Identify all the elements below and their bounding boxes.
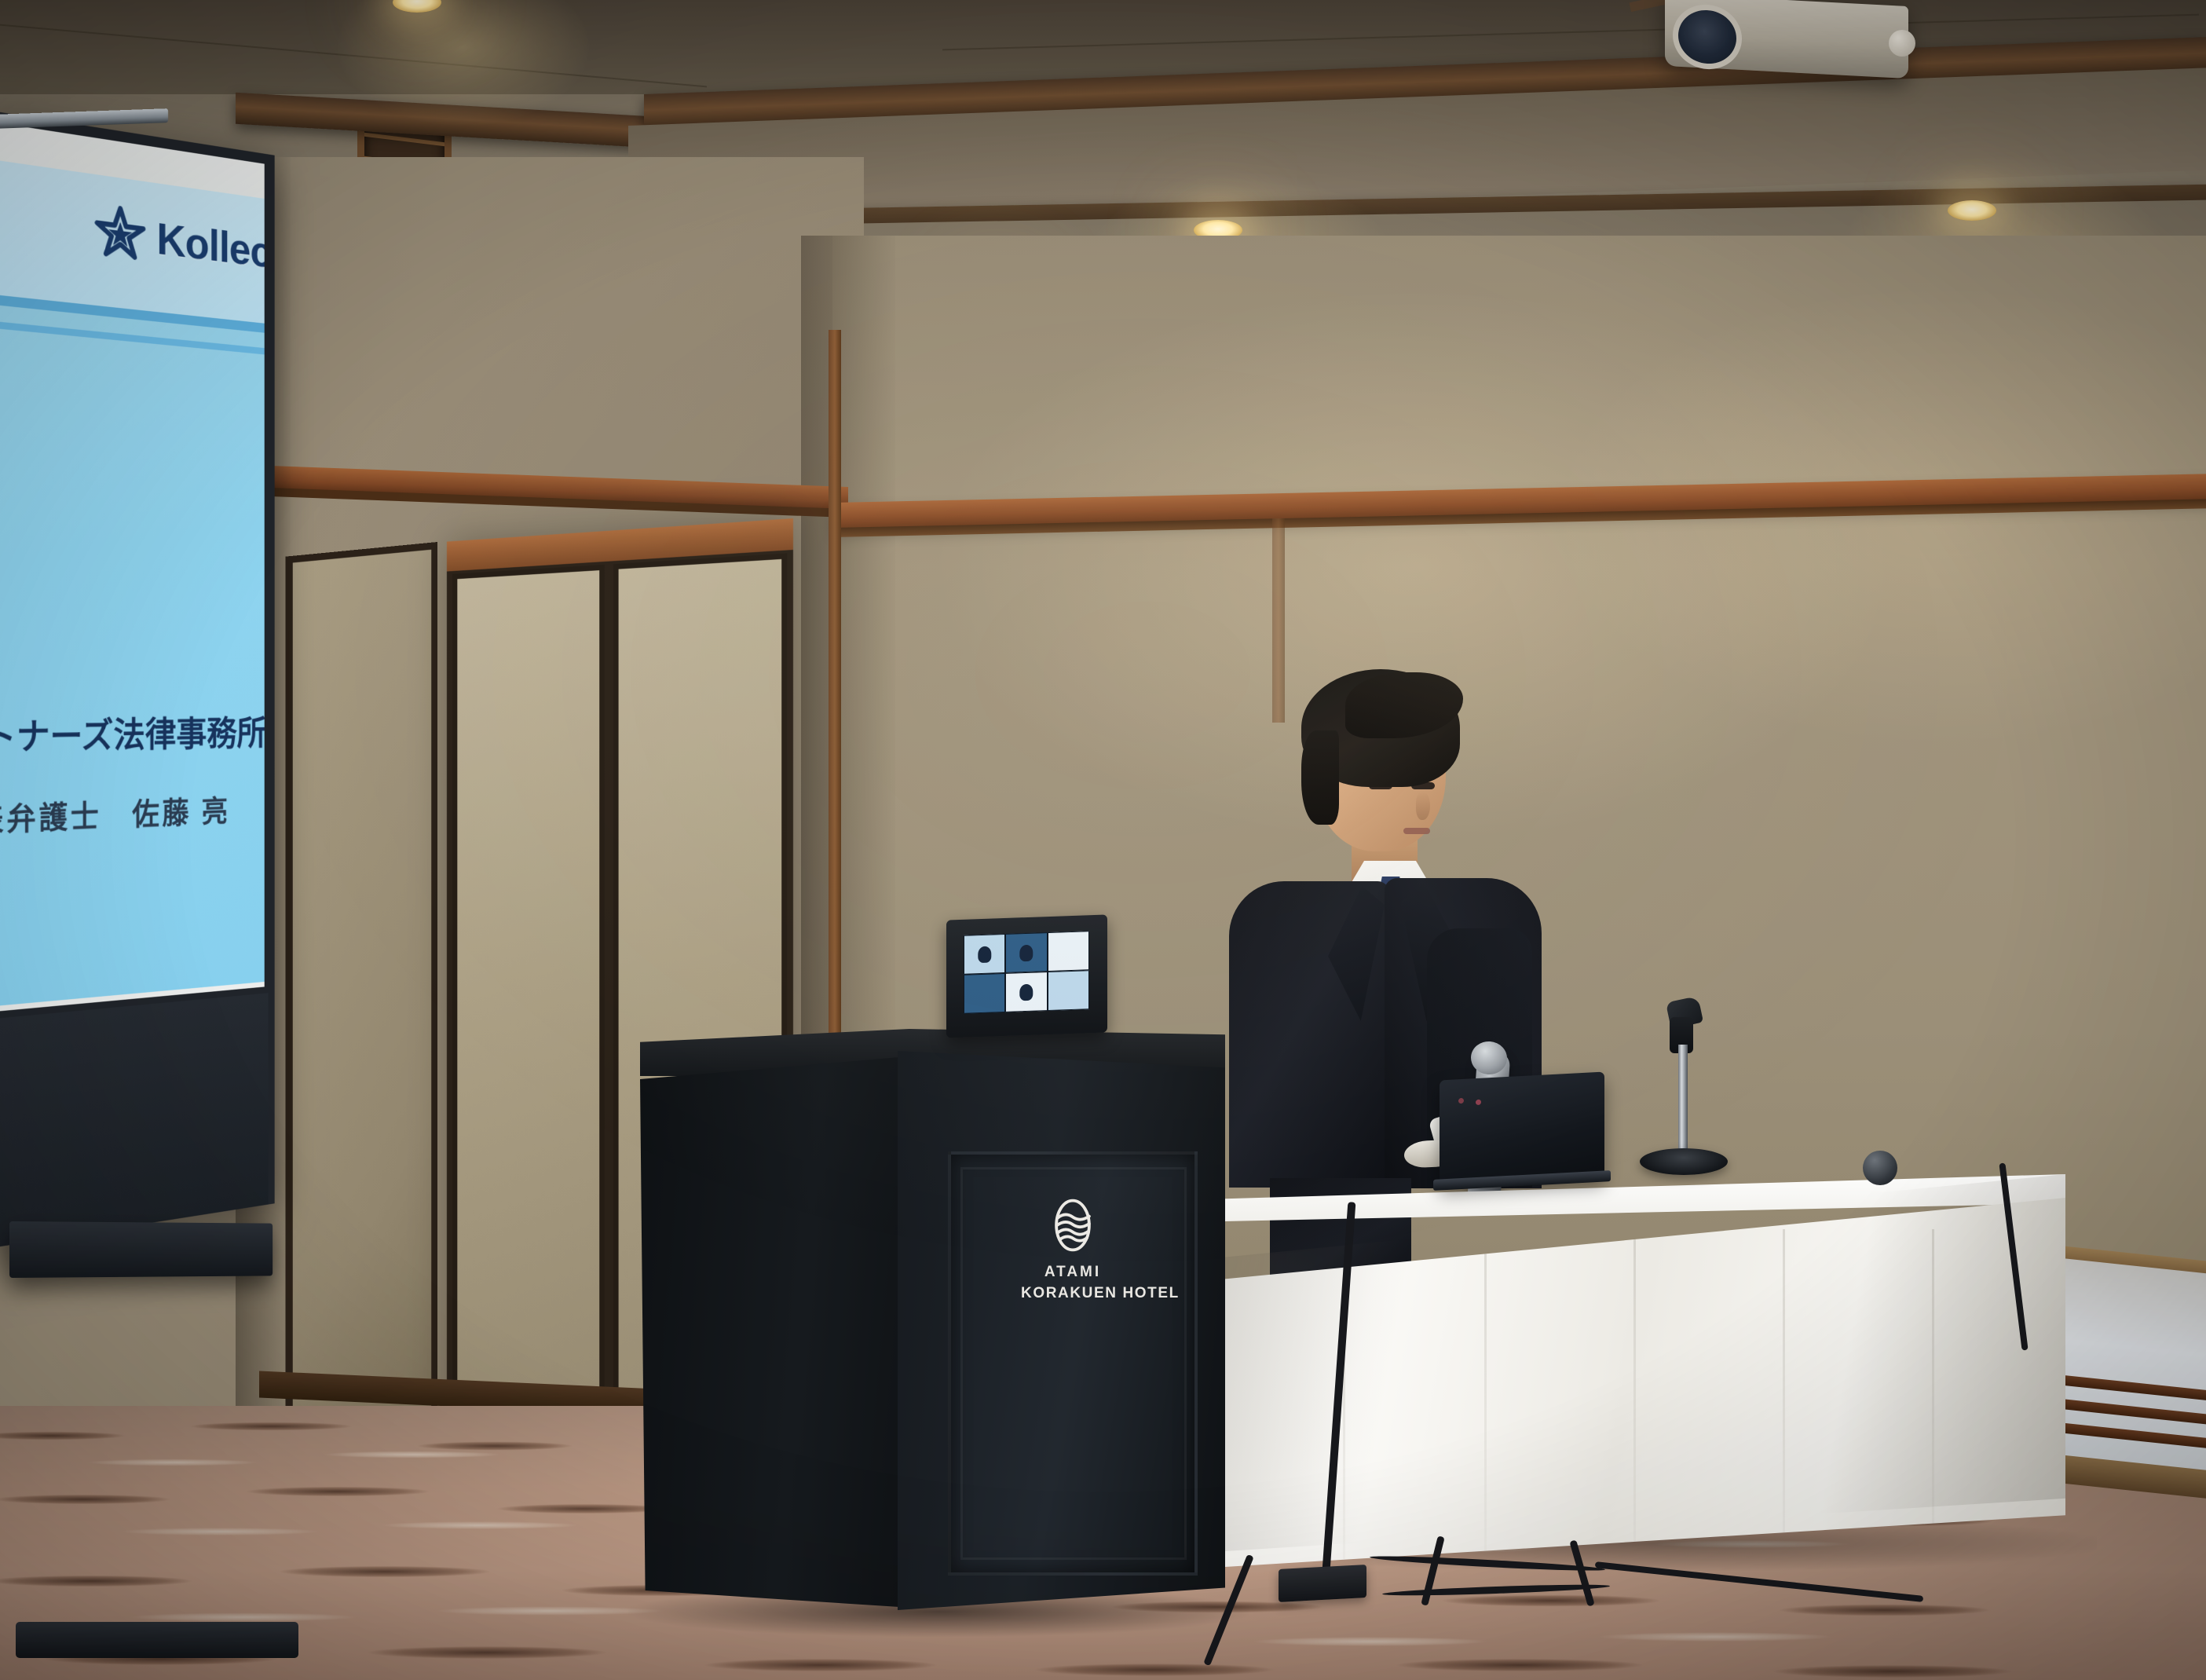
slide-content: Kollect と実例 Kollectパートナーズ法律事務所 代表弁護士 佐藤 … (0, 159, 265, 1007)
projector-adjust-knob (1889, 30, 1915, 57)
wave-oval-emblem-icon (1050, 1195, 1096, 1255)
video-tile (1005, 972, 1047, 1012)
hotel-brand-line-1: ATAMI (1021, 1264, 1125, 1281)
hair-sideburn (1301, 730, 1339, 825)
video-tile (1048, 931, 1089, 972)
laptop-sticker (1458, 1098, 1464, 1104)
video-tile (1048, 970, 1089, 1011)
mouth (1403, 828, 1430, 834)
screen-roll-case[interactable] (9, 1221, 273, 1278)
podium-laptop[interactable] (946, 917, 1107, 1035)
slide-presenter-name: 代表弁護士 佐藤 亮 (0, 785, 265, 842)
projection-screen[interactable]: Kollect と実例 Kollectパートナーズ法律事務所 代表弁護士 佐藤 … (0, 110, 275, 1249)
star-icon (94, 202, 145, 265)
slide-title: と実例 (0, 456, 265, 557)
slide-firm-name: Kollectパートナーズ法律事務所 (0, 706, 265, 765)
video-tile (964, 934, 1005, 975)
video-tile (1005, 932, 1047, 973)
hotel-logo: ATAMI KORAKUEN HOTEL (1021, 1195, 1125, 1302)
nose (1416, 792, 1430, 820)
video-call-screen[interactable] (964, 931, 1089, 1014)
ceiling-downlight (1948, 200, 1996, 221)
fusuma-panel-left[interactable] (452, 565, 605, 1415)
lectern-left-face (640, 1057, 899, 1607)
table-laptop[interactable] (1440, 1071, 1604, 1186)
laptop-sticker (1476, 1100, 1481, 1105)
screen-base-foot (16, 1622, 298, 1658)
screen-surface: Kollect と実例 Kollectパートナーズ法律事務所 代表弁護士 佐藤 … (0, 121, 265, 1012)
presentation-room-photo: Kollect と実例 Kollectパートナーズ法律事務所 代表弁護士 佐藤 … (0, 0, 2206, 1680)
hotel-brand-line-2: KORAKUEN HOTEL (1021, 1285, 1125, 1302)
desk-microphone-base[interactable] (1640, 1148, 1728, 1175)
lectern[interactable]: ATAMI KORAKUEN HOTEL (640, 1029, 1225, 1610)
video-tile (964, 973, 1005, 1014)
screen-lower-drape (0, 993, 269, 1249)
side-door-panel[interactable] (286, 542, 437, 1461)
desk-microphone-pole (1678, 1045, 1688, 1155)
table-round-object[interactable] (1863, 1151, 1897, 1185)
power-adapter-brick (1279, 1565, 1366, 1602)
